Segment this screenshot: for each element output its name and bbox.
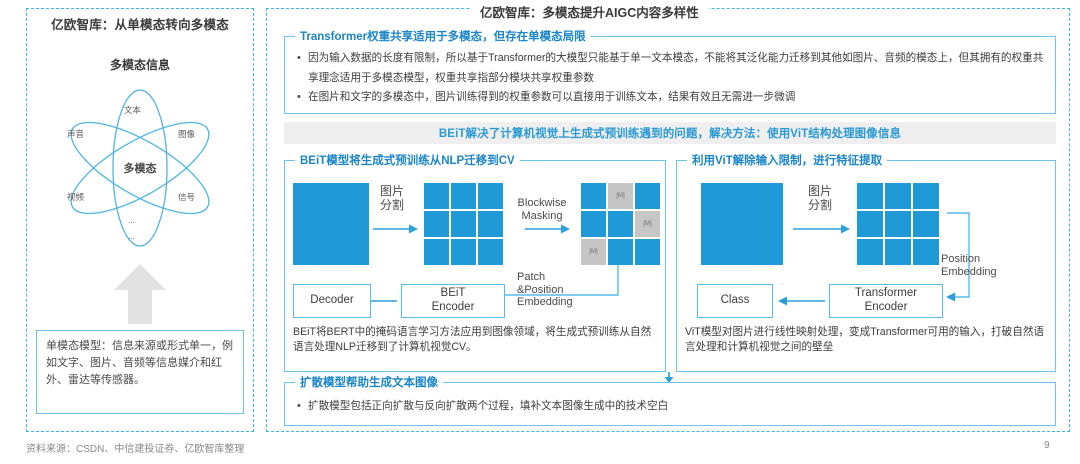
beit-encoder-box: BEiT Encoder <box>401 284 505 318</box>
vit-source-image <box>701 183 783 265</box>
atom-label-more-2: ... <box>128 231 135 241</box>
list-item: 因为输入数据的长度有限制，所以基于Transformer的大模型只能基于单一文本… <box>295 49 1045 88</box>
beit-masking-arrow-icon <box>525 223 571 235</box>
atom-center-label: 多模态 <box>124 160 157 176</box>
upward-arrow-icon <box>108 262 172 324</box>
vit-section: 利用ViT解除输入限制，进行特征提取 图片 分割 Position Embedd… <box>676 160 1056 372</box>
atom-label-video: 视频 <box>67 191 84 203</box>
vit-class-arrow-icon <box>777 295 825 307</box>
diffusion-section: 扩散模型帮助生成文本图像 扩散模型包括正向扩散与反向扩散两个过程，填补文本图像生… <box>284 382 1056 426</box>
vit-split-label: 图片 分割 <box>803 185 837 213</box>
atom-label-image: 图像 <box>178 128 195 140</box>
transformer-section: Transformer权重共享适用于多模态，但存在单模态局限 因为输入数据的长度… <box>284 36 1056 114</box>
multimodal-atom-diagram: 文本 声音 图像 视频 信号 ... ... 多模态 <box>40 78 240 258</box>
diffusion-section-title: 扩散模型帮助生成文本图像 <box>295 374 443 390</box>
vit-caption: ViT模型对图片进行线性映射处理，变成Transformer可用的输入，打破自然… <box>685 325 1049 356</box>
beit-masking-label: Blockwise Masking <box>507 197 577 222</box>
vit-position-embedding-label: Position Embedding <box>941 253 1045 278</box>
single-modal-definition-box: 单模态模型：信息来源或形式单一，例如文字、图片、音频等信息媒介和红外、雷达等传感… <box>36 330 244 414</box>
atom-label-more-1: ... <box>128 215 135 225</box>
mask-token: [M] <box>635 211 660 237</box>
beit-caption: BEiT将BERT中的掩码语言学习方法应用到图像领域，将生成式预训练从自然语言处… <box>293 325 659 356</box>
beit-decoder-box: Decoder <box>293 284 371 318</box>
list-item: 扩散模型包括正向扩散与反向扩散两个过程，填补文本图像生成中的技术空白 <box>295 397 1045 417</box>
beit-split-label: 图片 分割 <box>375 185 409 213</box>
mask-token: [M] <box>608 183 633 209</box>
vit-class-box: Class <box>697 284 773 318</box>
vit-section-title: 利用ViT解除输入限制，进行特征提取 <box>687 152 887 168</box>
right-panel-title: 亿欧智库：多模态提升AIGC内容多样性 <box>470 2 709 21</box>
beit-patch-position-label: Patch &Position Embedding <box>517 271 603 309</box>
atom-label-text: 文本 <box>124 104 141 116</box>
beit-section: BEiT模型将生成式预训练从NLP迁移到CV 图片 分割 Blockwise M… <box>284 160 666 372</box>
left-panel-title: 亿欧智库：从单模态转向多模态 <box>34 14 246 33</box>
beit-split-arrow-icon <box>373 223 419 235</box>
slide-page: 亿欧智库：从单模态转向多模态 多模态信息 文本 声音 图像 视频 信号 ... … <box>0 0 1080 464</box>
beit-section-title: BEiT模型将生成式预训练从NLP迁移到CV <box>295 152 520 168</box>
vit-split-arrow-icon <box>793 223 851 235</box>
list-item: 在图片和文字的多模态中，图片训练得到的权重参数可以直接用于训练文本，结果有效且无… <box>295 88 1045 108</box>
page-number: 9 <box>1044 440 1050 451</box>
mask-token: [M] <box>581 239 606 265</box>
atom-label-signal: 信号 <box>178 191 195 203</box>
transformer-bullet-list: 因为输入数据的长度有限制，所以基于Transformer的大模型只能基于单一文本… <box>285 37 1055 108</box>
source-note: 资料来源：CSDN、中信建投证券、亿欧智库整理 <box>26 440 244 455</box>
beit-banner: BEiT解决了计算机视觉上生成式预训练遇到的问题，解决方法：使用ViT结构处理图… <box>284 122 1056 144</box>
left-panel-subtitle: 多模态信息 <box>34 56 246 73</box>
atom-label-audio: 声音 <box>67 128 84 140</box>
beit-source-image <box>293 183 369 265</box>
vit-transformer-encoder-box: Transformer Encoder <box>829 284 943 318</box>
transformer-section-title: Transformer权重共享适用于多模态，但存在单模态局限 <box>295 28 591 44</box>
